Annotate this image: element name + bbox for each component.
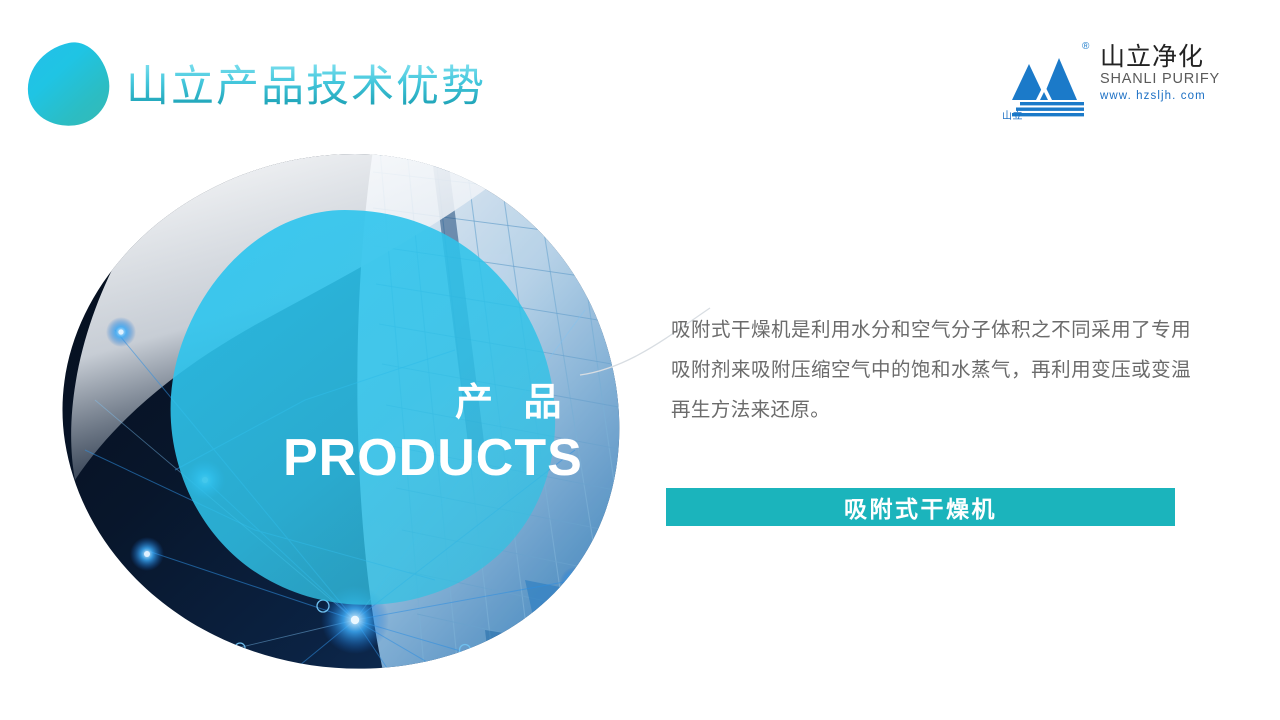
description-paragraph: 吸附式干燥机是利用水分和空气分子体积之不同采用了专用吸附剂来吸附压缩空气中的饱和… <box>671 310 1191 430</box>
registered-mark-icon: ® <box>1082 41 1089 52</box>
blob-shape-icon <box>19 36 116 133</box>
logo-website: www. hzsljh. com <box>1100 89 1226 104</box>
product-name-label: 吸附式干燥机 <box>844 490 997 524</box>
logo-text-block: 山立净化 SHANLI PURIFY www. hzsljh. com <box>1100 44 1226 104</box>
page-title: 山立产品技术优势 <box>126 62 486 113</box>
logo-mark-label: 山立 <box>1002 107 1023 122</box>
products-blob-illustration: 产 品 PRODUCTS <box>55 150 635 680</box>
logo-company-cn: 山立净化 <box>1100 44 1226 70</box>
company-logo: 山立 ® 山立净化 SHANLI PURIFY www. hzsljh. com <box>996 40 1222 126</box>
slide-root: 山立产品技术优势 山立 ® 山立净化 SHANLI PURIFY www. hz… <box>0 0 1280 720</box>
product-name-banner: 吸附式干燥机 <box>666 488 1175 526</box>
logo-company-en: SHANLI PURIFY <box>1100 70 1226 89</box>
products-graphic: 产 品 PRODUCTS <box>55 150 635 680</box>
graphic-title-cn: 产 品 <box>455 382 572 424</box>
graphic-title-en: PRODUCTS <box>283 429 583 487</box>
